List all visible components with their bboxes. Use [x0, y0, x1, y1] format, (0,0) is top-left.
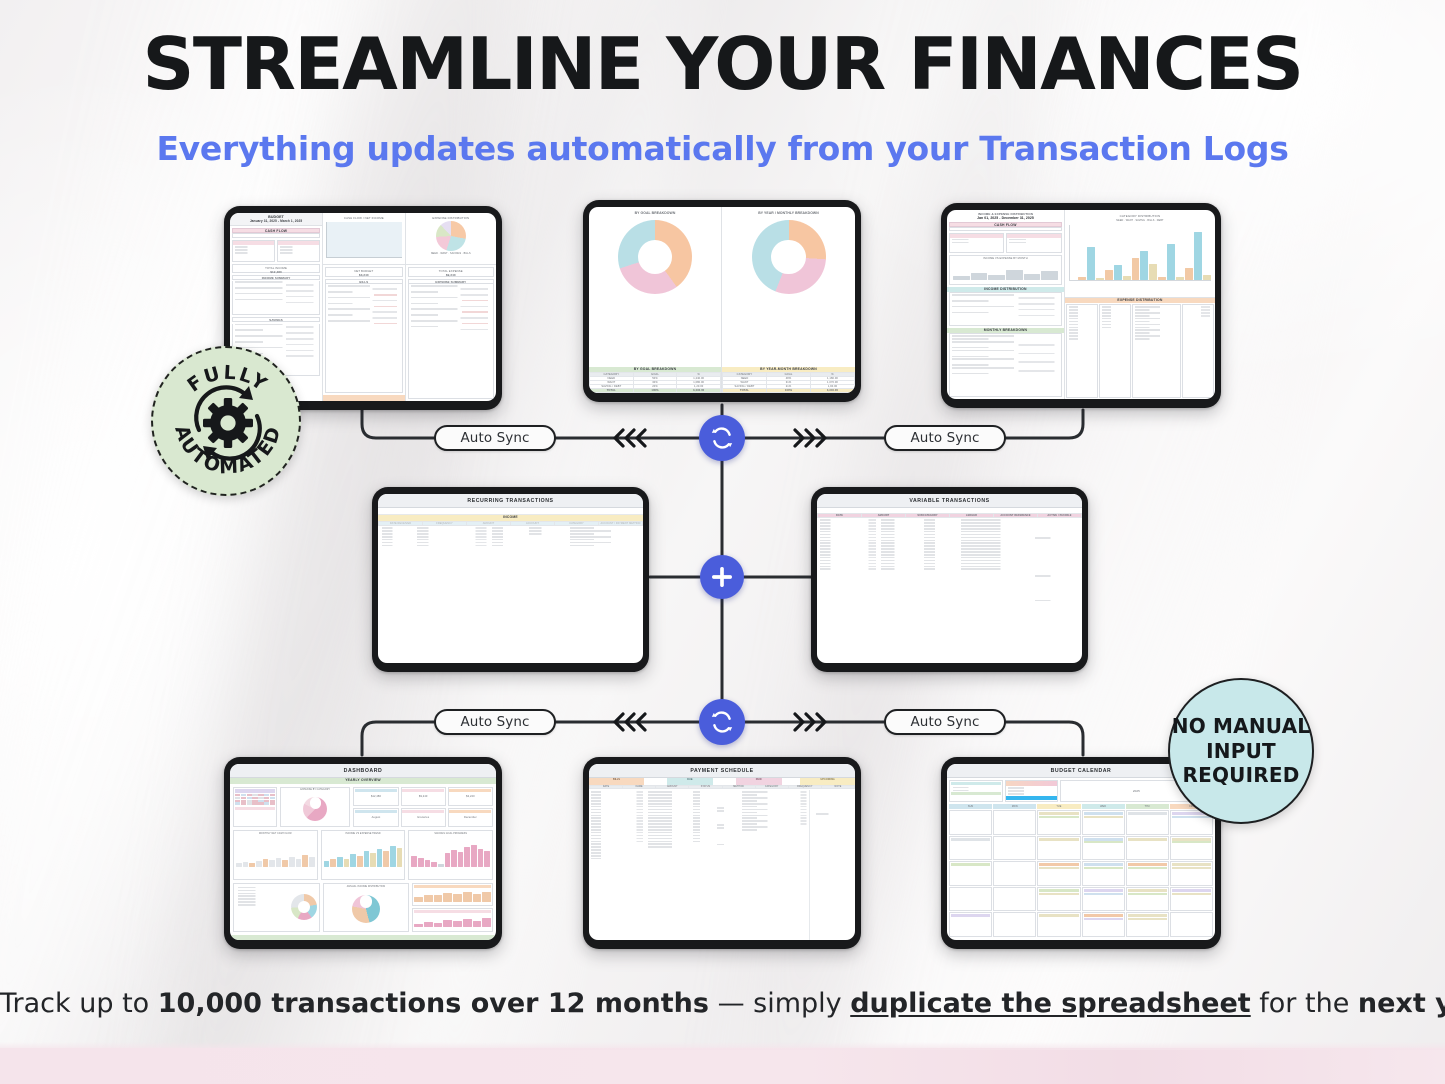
- panel-variable-transactions[interactable]: VARIABLE TRANSACTIONS DATE AMOUNT SUBCAT…: [811, 487, 1088, 672]
- sync-refresh-icon: [708, 708, 736, 736]
- badge-top-text: FULLY: [183, 362, 272, 397]
- auto-sync-label: Auto Sync: [910, 430, 979, 446]
- panel-income-expense-distribution[interactable]: INCOME & EXPENSE DISTRIBUTION Jan 01, 20…: [941, 203, 1221, 408]
- auto-sync-pill-top-left[interactable]: Auto Sync: [434, 425, 556, 451]
- plus-icon: [709, 564, 735, 590]
- budget-expense-pie-chart: [436, 221, 466, 251]
- badge-line-3: REQUIRED: [1182, 763, 1299, 787]
- bottom-accent-band: [0, 1048, 1445, 1084]
- tab-due[interactable]: DUE: [667, 778, 713, 785]
- calendar-cell[interactable]: [949, 810, 992, 835]
- calendar-cell[interactable]: [949, 887, 992, 912]
- caption-bold-2: next year: [1358, 988, 1445, 1019]
- calendar-cell[interactable]: [1082, 912, 1125, 937]
- recurring-title: RECURRING TRANSACTIONS: [378, 494, 643, 508]
- no-manual-input-badge: NO MANUAL INPUT REQUIRED: [1168, 678, 1314, 824]
- monthly-donut-chart: [752, 220, 826, 294]
- dashboard-title: DASHBOARD: [230, 764, 496, 778]
- calendar-cell[interactable]: [949, 861, 992, 886]
- badge-line-2: INPUT: [1206, 739, 1276, 763]
- calendar-cell[interactable]: [1082, 861, 1125, 886]
- auto-sync-pill-bottom-right[interactable]: Auto Sync: [884, 709, 1006, 735]
- sync-hub-bottom[interactable]: [699, 699, 745, 745]
- auto-sync-pill-bottom-left[interactable]: Auto Sync: [434, 709, 556, 735]
- goal-donut-chart: [618, 220, 692, 294]
- category-bar-chart: [1069, 225, 1211, 281]
- distribution-date-range: Jan 01, 2025 - December 31, 2025: [949, 216, 1062, 220]
- calendar-cell[interactable]: [993, 887, 1036, 912]
- tab-paid[interactable]: PAID: [736, 778, 782, 785]
- calendar-cell[interactable]: [1170, 861, 1213, 886]
- calendar-cell[interactable]: [1037, 810, 1080, 835]
- chevron-triple-left-icon: [606, 425, 652, 451]
- fully-automated-badge: FULLY AUTOMATED: [151, 346, 301, 496]
- calendar-cell[interactable]: [1126, 836, 1169, 861]
- panel-recurring-transactions[interactable]: RECURRING TRANSACTIONS INCOME DATE RECEI…: [372, 487, 649, 672]
- calendar-cell[interactable]: [1170, 912, 1213, 937]
- caption-part-1: Track up to: [0, 988, 158, 1019]
- calendar-cell[interactable]: [1126, 887, 1169, 912]
- auto-sync-label: Auto Sync: [910, 714, 979, 730]
- chevron-triple-right-icon: [788, 709, 834, 735]
- calendar-cell[interactable]: [1082, 887, 1125, 912]
- calendar-cell[interactable]: [1126, 861, 1169, 886]
- tab-bills[interactable]: BILLS: [589, 778, 644, 785]
- infographic-canvas: STREAMLINE YOUR FINANCES Everything upda…: [0, 0, 1445, 1084]
- svg-text:FULLY: FULLY: [183, 362, 272, 397]
- calendar-cell[interactable]: [993, 810, 1036, 835]
- calendar-cell[interactable]: [993, 912, 1036, 937]
- chevron-triple-left-icon: [606, 709, 652, 735]
- dashboard-income-donut: [352, 895, 380, 923]
- caption-link[interactable]: duplicate the spreadsheet: [850, 988, 1250, 1019]
- caption-bold-1: 10,000 transactions over 12 months: [158, 988, 709, 1019]
- calendar-cell[interactable]: [1037, 836, 1080, 861]
- panel-goal-breakdown[interactable]: BY GOAL BREAKDOWN BY GOAL BREAKDOWN CATE…: [583, 200, 861, 402]
- calendar-cell[interactable]: [949, 836, 992, 861]
- calendar-cell[interactable]: [993, 836, 1036, 861]
- plus-hub-center[interactable]: [700, 555, 744, 599]
- auto-sync-label: Auto Sync: [460, 430, 529, 446]
- caption-part-3: for the: [1251, 988, 1358, 1019]
- badge-line-1: NO MANUAL: [1172, 714, 1310, 738]
- calendar-cell[interactable]: [1037, 861, 1080, 886]
- gear-icon: [203, 398, 253, 448]
- dashboard-expense-donut: [303, 797, 327, 821]
- calendar-cell[interactable]: [1170, 836, 1213, 861]
- calendar-cell[interactable]: [1170, 887, 1213, 912]
- auto-sync-label: Auto Sync: [460, 714, 529, 730]
- chevron-triple-right-icon: [788, 425, 834, 451]
- sync-refresh-icon: [708, 424, 736, 452]
- goal-chart-title: BY GOAL BREAKDOWN: [593, 211, 717, 215]
- auto-sync-pill-top-right[interactable]: Auto Sync: [884, 425, 1006, 451]
- caption-part-2: — simply: [709, 988, 850, 1019]
- budget-date-range: January 31, 2025 - March 1, 2025: [230, 219, 322, 223]
- sync-hub-top[interactable]: [699, 415, 745, 461]
- monthly-chart-title: BY YEAR / MONTHLY BREAKDOWN: [726, 211, 851, 215]
- calendar-cell[interactable]: [949, 912, 992, 937]
- calendar-cell[interactable]: [1126, 912, 1169, 937]
- panel-payment-schedule[interactable]: PAYMENT SCHEDULE BILLS DUE PAID UPCOMING…: [583, 757, 861, 949]
- calendar-cell[interactable]: [1126, 810, 1169, 835]
- calendar-cell[interactable]: [1082, 810, 1125, 835]
- dashboard-spending-donut: [291, 894, 317, 920]
- calendar-cell[interactable]: [993, 861, 1036, 886]
- payment-schedule-title: PAYMENT SCHEDULE: [589, 764, 855, 778]
- panel-dashboard[interactable]: DASHBOARD YEARLY OVERVIEW: [224, 757, 502, 949]
- calendar-cell[interactable]: [1082, 836, 1125, 861]
- calendar-cell[interactable]: [1037, 912, 1080, 937]
- variable-title: VARIABLE TRANSACTIONS: [817, 494, 1082, 508]
- footer-caption: Track up to 10,000 transactions over 12 …: [0, 988, 1445, 1019]
- calendar-cell[interactable]: [1037, 887, 1080, 912]
- tab-upcoming[interactable]: UPCOMING: [800, 778, 855, 785]
